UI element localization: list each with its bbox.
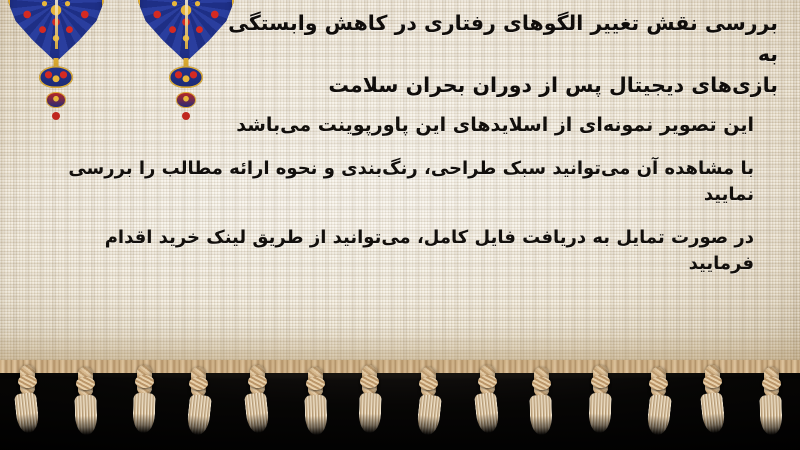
slide-body-line-3: در صورت تمایل به دریافت فایل کامل، می‌تو… bbox=[42, 225, 754, 277]
tassel-skirt bbox=[358, 393, 381, 434]
fringe-tassel bbox=[73, 367, 99, 435]
tassel-skirt bbox=[760, 395, 783, 436]
tassel-skirt bbox=[74, 395, 97, 436]
fringe-tassel bbox=[758, 367, 784, 435]
slide-body-line-1: این تصویر نمونه‌ای از اسلایدهای این پاور… bbox=[42, 112, 754, 138]
tassel-skirt bbox=[530, 395, 553, 436]
tassel-skirt bbox=[646, 394, 672, 436]
slide-body-line-2: با مشاهده آن می‌توانید سبک طراحی، رنگ‌بن… bbox=[42, 156, 754, 208]
fringe-tassel bbox=[528, 367, 554, 435]
fringe-tassel bbox=[186, 367, 212, 435]
tassel-skirt bbox=[588, 393, 611, 434]
slide-body: این تصویر نمونه‌ای از اسلایدهای این پاور… bbox=[42, 112, 754, 277]
slide-text-layer: بررسی نقش تغییر الگوهای رفتاری در کاهش و… bbox=[0, 0, 800, 376]
tassel-skirt bbox=[185, 394, 211, 436]
fringe-tassel bbox=[416, 367, 442, 435]
tassel-skirt bbox=[474, 392, 500, 434]
tassel-skirt bbox=[416, 394, 442, 436]
tassel-skirt bbox=[700, 392, 726, 434]
tassel-skirt bbox=[14, 392, 40, 434]
fringe-tassel bbox=[303, 367, 329, 435]
slide-title-line-2: بازی‌های دیجیتال پس از دوران بحران سلامت bbox=[218, 70, 778, 101]
slide-title: بررسی نقش تغییر الگوهای رفتاری در کاهش و… bbox=[218, 8, 778, 101]
tassel-skirt bbox=[244, 392, 270, 434]
slide-title-line-1: بررسی نقش تغییر الگوهای رفتاری در کاهش و… bbox=[228, 11, 778, 66]
tassel-skirt bbox=[133, 393, 156, 434]
fringe-tassel bbox=[646, 367, 672, 435]
presentation-slide: بررسی نقش تغییر الگوهای رفتاری در کاهش و… bbox=[0, 0, 800, 450]
tassel-skirt bbox=[304, 395, 327, 436]
